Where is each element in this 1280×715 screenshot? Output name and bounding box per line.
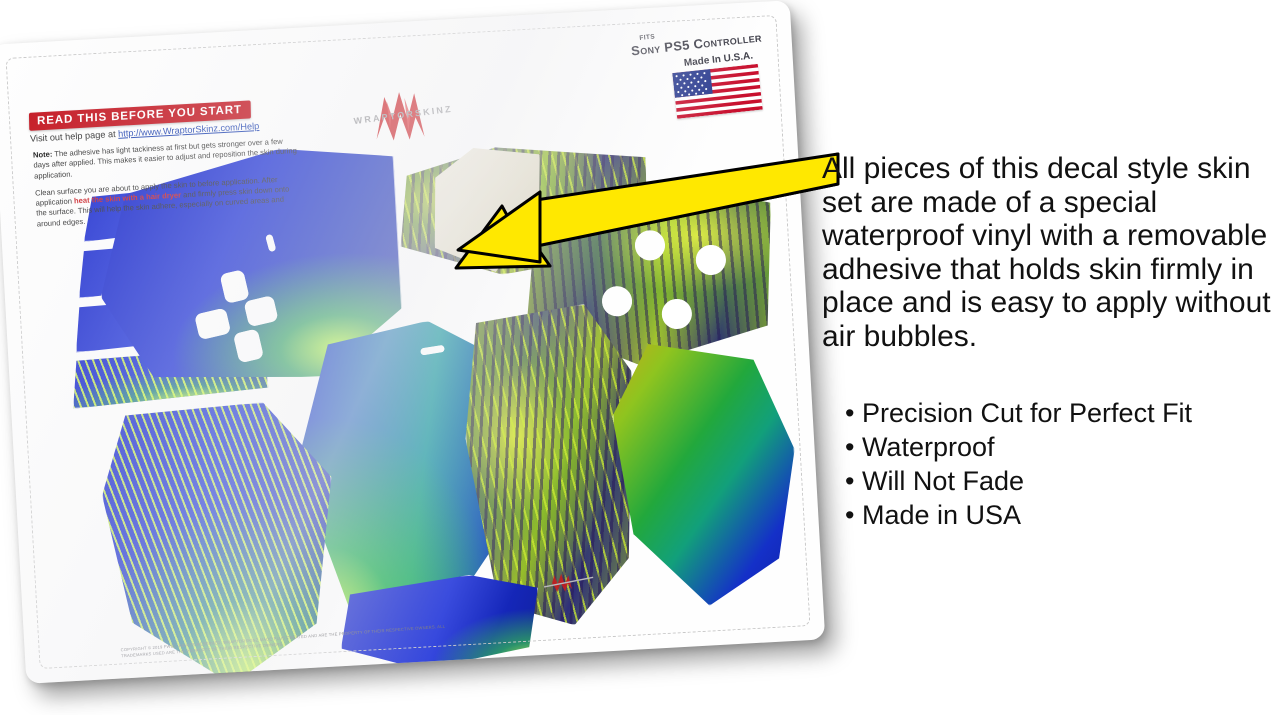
bullet-item-0: • Precision Cut for Perfect Fit bbox=[845, 396, 1275, 430]
united-states-flag-icon bbox=[672, 64, 762, 119]
callout-arrow bbox=[440, 150, 840, 270]
art-brand-watermark bbox=[541, 568, 598, 597]
wraptorskinz-logo: WRAPTORSKINZ bbox=[346, 82, 469, 151]
note-label: Note: bbox=[33, 150, 53, 160]
marketing-paragraph: All pieces of this decal style skin set … bbox=[822, 152, 1274, 354]
skin-piece-right-grip bbox=[608, 331, 803, 611]
instruction-paragraph: Clean surface you are about to apply the… bbox=[35, 174, 302, 230]
sheet-paper: READ THIS BEFORE YOU START Visit out hel… bbox=[0, 0, 825, 684]
decal-sheet: READ THIS BEFORE YOU START Visit out hel… bbox=[0, 0, 825, 684]
application-notes: Note: The adhesive has light tackiness a… bbox=[33, 136, 302, 236]
product-photo-stage: READ THIS BEFORE YOU START Visit out hel… bbox=[0, 0, 1280, 715]
bullet-item-2: • Will Not Fade bbox=[845, 464, 1275, 498]
feature-bullet-list: • Precision Cut for Perfect Fit • Waterp… bbox=[845, 396, 1275, 532]
bullet-item-1: • Waterproof bbox=[845, 430, 1275, 464]
bullet-item-3: • Made in USA bbox=[845, 498, 1275, 532]
